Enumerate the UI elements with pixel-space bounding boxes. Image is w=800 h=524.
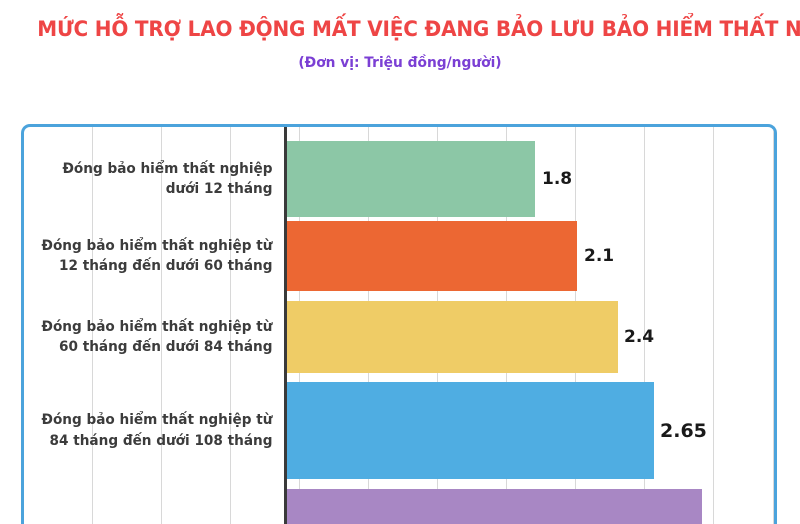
category-label: Đóng bảo hiểm thất nghiệp từ 60 tháng đế… <box>34 317 284 357</box>
bar-segment[interactable] <box>287 141 535 217</box>
page-title: MỨC HỖ TRỢ LAO ĐỘNG MẤT VIỆC ĐANG BẢO LƯ… <box>28 18 772 43</box>
chart-header: MỨC HỖ TRỢ LAO ĐỘNG MẤT VIỆC ĐANG BẢO LƯ… <box>0 0 800 71</box>
chart-unit-subtitle: (Đơn vị: Triệu đồng/người) <box>20 43 780 71</box>
bar-row: Đóng bảo hiểm thất nghiệp từ 84 tháng đế… <box>24 382 774 479</box>
category-label: Đóng bảo hiểm thất nghiệp từ 84 tháng đế… <box>34 410 284 450</box>
bar-row: Đóng bảo hiểm thất nghiệp từ 12 tháng đế… <box>24 221 774 291</box>
plot-area: Đóng bảo hiểm thất nghiệp dưới 12 tháng … <box>24 127 774 524</box>
bar-value-label: 2.1 <box>584 246 614 266</box>
bar-row: Đóng bảo hiểm thất nghiệp từ 60 tháng đế… <box>24 301 774 373</box>
chart-panel: Đóng bảo hiểm thất nghiệp dưới 12 tháng … <box>21 124 777 524</box>
bar-row <box>24 489 774 524</box>
bar-value-label: 2.4 <box>624 327 654 347</box>
category-label: Đóng bảo hiểm thất nghiệp từ 12 tháng đế… <box>34 236 284 276</box>
bar-value-label: 2.65 <box>660 420 707 442</box>
bar-segment[interactable] <box>287 382 654 479</box>
bar-segment[interactable] <box>287 301 618 373</box>
category-axis-line <box>284 127 287 524</box>
category-label: Đóng bảo hiểm thất nghiệp dưới 12 tháng <box>34 159 284 199</box>
bar-segment[interactable] <box>287 221 577 291</box>
bar-segment[interactable] <box>287 489 702 524</box>
bar-row: Đóng bảo hiểm thất nghiệp dưới 12 tháng … <box>24 141 774 217</box>
bar-value-label: 1.8 <box>542 169 572 189</box>
bar-rows: Đóng bảo hiểm thất nghiệp dưới 12 tháng … <box>24 127 774 524</box>
